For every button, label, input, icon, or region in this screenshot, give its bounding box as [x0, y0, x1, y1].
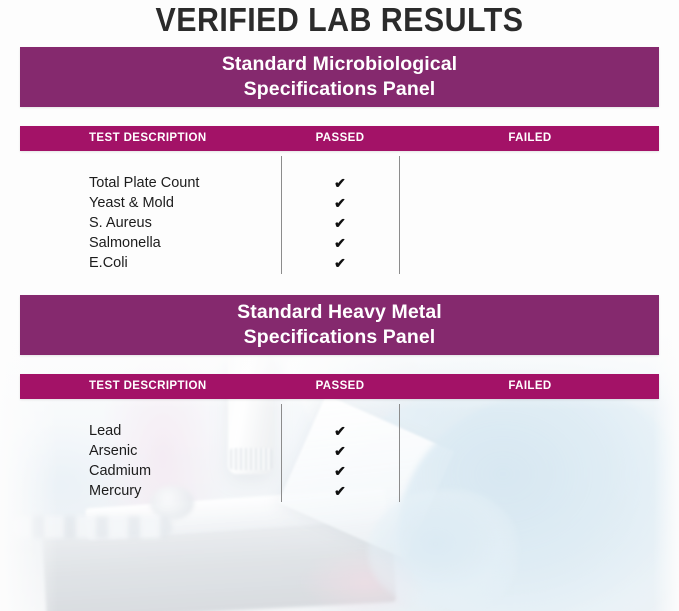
- content-layer: VERIFIED LAB RESULTS Standard Microbiolo…: [0, 0, 679, 611]
- row-description: Mercury: [89, 481, 141, 501]
- panel-heavy-metal-table-header: TEST DESCRIPTION PASSED FAILED: [20, 374, 659, 399]
- column-header-passed: PASSED: [267, 380, 413, 392]
- column-header-test-description: TEST DESCRIPTION: [89, 132, 207, 144]
- column-header-test-description: TEST DESCRIPTION: [89, 380, 207, 392]
- panel-heavy-metal-title-line2: Specifications Panel: [20, 325, 659, 350]
- row-passed-check-icon: ✔: [281, 253, 399, 273]
- row-description: S. Aureus: [89, 213, 152, 233]
- row-passed-check-icon: ✔: [281, 461, 399, 481]
- row-description: Salmonella: [89, 233, 161, 253]
- column-header-failed: FAILED: [457, 132, 603, 144]
- panel-heavy-metal-table-body: Lead ✔ Arsenic ✔ Cadmium ✔ Mercury ✔: [20, 399, 659, 512]
- row-passed-check-icon: ✔: [281, 173, 399, 193]
- row-description: Cadmium: [89, 461, 151, 481]
- table-row: Arsenic ✔: [20, 441, 659, 461]
- panel-microbiological-table-body: Total Plate Count ✔ Yeast & Mold ✔ S. Au…: [20, 151, 659, 280]
- row-passed-check-icon: ✔: [281, 193, 399, 213]
- row-description: E.Coli: [89, 253, 128, 273]
- panel-microbiological-header: Standard Microbiological Specifications …: [20, 47, 659, 107]
- panel-microbiological-header-gap: [20, 107, 659, 126]
- row-description: Arsenic: [89, 441, 137, 461]
- table-row: E.Coli ✔: [20, 253, 659, 273]
- table-row: Salmonella ✔: [20, 233, 659, 253]
- panel-heavy-metal-title-line1: Standard Heavy Metal: [20, 300, 659, 325]
- column-header-passed: PASSED: [267, 132, 413, 144]
- row-passed-check-icon: ✔: [281, 481, 399, 501]
- table-row: S. Aureus ✔: [20, 213, 659, 233]
- row-passed-check-icon: ✔: [281, 421, 399, 441]
- panel-microbiological-title-line2: Specifications Panel: [20, 77, 659, 102]
- row-description: Total Plate Count: [89, 173, 199, 193]
- table-row: Mercury ✔: [20, 481, 659, 501]
- panel-heavy-metal-header: Standard Heavy Metal Specifications Pane…: [20, 295, 659, 355]
- table-row: Cadmium ✔: [20, 461, 659, 481]
- panel-heavy-metal-header-gap: [20, 355, 659, 374]
- row-passed-check-icon: ✔: [281, 233, 399, 253]
- row-description: Yeast & Mold: [89, 193, 174, 213]
- panel-microbiological-table-header: TEST DESCRIPTION PASSED FAILED: [20, 126, 659, 151]
- table-row: Yeast & Mold ✔: [20, 193, 659, 213]
- table-row: Lead ✔: [20, 421, 659, 441]
- verified-lab-results-page: VERIFIED LAB RESULTS Standard Microbiolo…: [0, 0, 679, 611]
- panel-microbiological: Standard Microbiological Specifications …: [20, 47, 659, 280]
- panel-heavy-metal: Standard Heavy Metal Specifications Pane…: [20, 295, 659, 512]
- row-passed-check-icon: ✔: [281, 441, 399, 461]
- table-row: Total Plate Count ✔: [20, 173, 659, 193]
- panel-microbiological-title-line1: Standard Microbiological: [20, 52, 659, 77]
- column-header-failed: FAILED: [457, 380, 603, 392]
- row-passed-check-icon: ✔: [281, 213, 399, 233]
- page-title: VERIFIED LAB RESULTS: [27, 1, 652, 39]
- row-description: Lead: [89, 421, 121, 441]
